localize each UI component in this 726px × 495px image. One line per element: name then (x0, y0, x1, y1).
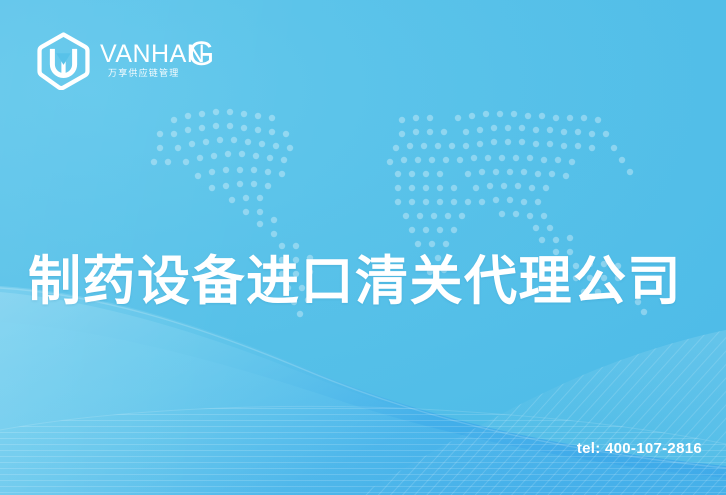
vanhang-hexagon-u-mark (36, 32, 91, 90)
company-logo: VANHAN G 万享供应链管理 (36, 32, 220, 90)
headline-title: 制药设备进口清关代理公司 (28, 252, 702, 311)
promotional-banner: VANHAN G 万享供应链管理 制药设备进口清关代理公司 tel: 400-1… (0, 0, 726, 495)
logo-subtitle: 万享供应链管理 (108, 66, 179, 79)
logo-wordmark-g: G (188, 37, 214, 71)
contact-phone: tel: 400-107-2816 (577, 440, 702, 457)
logo-wordmark-group: VANHAN G 万享供应链管理 (100, 40, 220, 82)
